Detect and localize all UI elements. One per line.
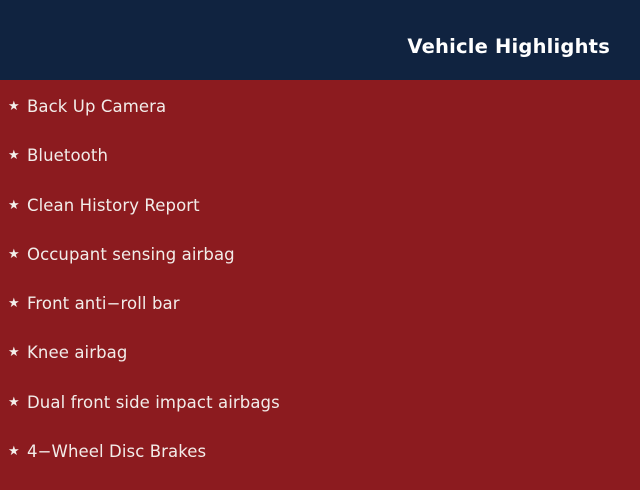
list-item: ★ Bluetooth: [0, 145, 640, 194]
panel-header: Vehicle Highlights: [0, 0, 640, 80]
vehicle-highlights-list: ★ Back Up Camera ★ Bluetooth ★ Clean His…: [0, 96, 640, 490]
list-item: ★ 4−Wheel Disc Brakes: [0, 441, 640, 490]
list-item: ★ Occupant sensing airbag: [0, 244, 640, 293]
list-item-label: Bluetooth: [27, 145, 108, 167]
star-icon: ★: [8, 392, 27, 414]
star-icon: ★: [8, 293, 27, 315]
list-item: ★ Front anti−roll bar: [0, 293, 640, 342]
star-icon: ★: [8, 244, 27, 266]
vehicle-highlights-panel: Vehicle Highlights ★ Back Up Camera ★ Bl…: [0, 0, 640, 480]
list-item-label: Front anti−roll bar: [27, 293, 180, 315]
list-item-label: Occupant sensing airbag: [27, 244, 235, 266]
list-item-label: Back Up Camera: [27, 96, 166, 118]
list-item-label: Dual front side impact airbags: [27, 392, 280, 414]
list-item: ★ Knee airbag: [0, 342, 640, 391]
list-item-label: Knee airbag: [27, 342, 127, 364]
list-item-label: 4−Wheel Disc Brakes: [27, 441, 206, 463]
list-item-label: Clean History Report: [27, 195, 200, 217]
page-title: Vehicle Highlights: [407, 23, 610, 57]
star-icon: ★: [8, 96, 27, 118]
star-icon: ★: [8, 195, 27, 217]
list-item: ★ Clean History Report: [0, 195, 640, 244]
list-item: ★ Back Up Camera: [0, 96, 640, 145]
highlights-body: ★ Back Up Camera ★ Bluetooth ★ Clean His…: [0, 80, 640, 490]
star-icon: ★: [8, 441, 27, 463]
list-item: ★ Dual front side impact airbags: [0, 392, 640, 441]
star-icon: ★: [8, 145, 27, 167]
star-icon: ★: [8, 342, 27, 364]
